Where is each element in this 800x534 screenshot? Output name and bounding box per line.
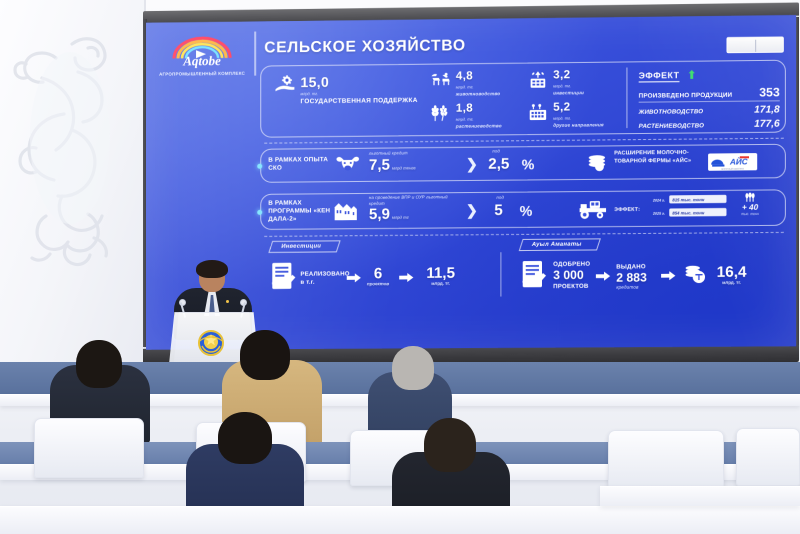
kendala-delta-value: + 40: [742, 203, 758, 212]
effect-livestock-label: ЖИВОТНОВОДСТВО: [639, 109, 704, 117]
state-support-caption: ГОСУДАРСТВЕННАЯ ПОДДЕРЖКА: [300, 96, 417, 105]
kendala-credit-value: 5,9: [369, 206, 390, 223]
kpi-crops: 1,8 млрд. тг. растениеводство: [430, 103, 502, 129]
svg-text:АЙС: АЙС: [729, 157, 748, 166]
chair-5: [736, 428, 800, 486]
kazakhstan-state-emblem: [196, 328, 226, 358]
effect-row-crops: РАСТЕНИЕВОДСТВО 177,6: [639, 120, 780, 131]
investments-total: 11,5 млрд. тг.: [419, 266, 461, 287]
coins-tenge-icon: [684, 265, 709, 284]
auyl-total: 16,4 млрд. тг.: [710, 265, 753, 286]
hand-with-gear-icon: [274, 75, 296, 93]
title-divider: [254, 32, 256, 76]
bottom-section-separator: [500, 252, 501, 296]
other-directions-caption: другие направления: [553, 122, 604, 128]
kendala-credit-value-wrap: 5,9млрд тг: [369, 207, 409, 222]
kendala-rate-value: 5: [494, 203, 502, 218]
tab-investments-label: Инвестиции: [281, 243, 321, 249]
grain-elevator-icon: [333, 200, 359, 221]
factory-icon: [527, 103, 549, 121]
kendala-credit-caption: на проведение ВПР и ОУР льготный кредит: [369, 194, 454, 206]
state-support-unit: млрд. тг.: [300, 89, 417, 95]
kendala-rate-caption: под: [496, 195, 504, 200]
conference-room-photo: Aqtobe АГРОПРОМЫШЛЕННЫЙ КОМПЛЕКС СЕЛЬСКО…: [0, 0, 800, 534]
kpi-other-directions: 5,2 млрд. тг. другие направления: [527, 102, 604, 128]
sko-credit-value: 7,5: [369, 157, 390, 174]
auyl-approved-unit: ПРОЕКТОВ: [553, 283, 588, 291]
investments-unit: млрд. тг.: [553, 83, 584, 88]
auyl-issued-value: 2 883: [616, 271, 647, 283]
kendala-chevron-icon: ❯: [466, 202, 478, 219]
crops-value: 1,8: [456, 103, 502, 115]
tab-auyl-amanaty-label: Ауыл Аманаты: [532, 242, 582, 248]
auyl-approved-value: 3 000: [553, 269, 584, 281]
audience-person-5-head: [424, 418, 476, 472]
document-signed-icon-auyl: [521, 260, 547, 290]
speaker-lapel-pin: [226, 300, 229, 303]
svg-text:молочный комплекс: молочный комплекс: [721, 167, 744, 170]
arrow-right-icon-1: [347, 273, 361, 282]
kendala-effect-value-2: 854 тыс. тонн: [669, 208, 726, 217]
livestock-caption: животноводство: [456, 91, 500, 96]
crops-caption: растениеводство: [456, 123, 502, 128]
cattle-icon: [430, 71, 452, 89]
screen-corner-label: [726, 36, 783, 53]
effect-crops-value: 177,6: [754, 120, 780, 130]
arrow-right-icon-3: [596, 272, 610, 281]
brand-subtitle: АГРОПРОМЫШЛЕННЫЙ КОМПЛЕКС: [154, 71, 250, 78]
kendala-row-bullet: [257, 210, 262, 215]
sko-result-text: РАСШИРЕНИЕ МОЛОЧНО-ТОВАРНОЙ ФЕРМЫ «АЙС»: [614, 150, 700, 167]
investments-value: 3,2: [553, 70, 584, 82]
effect-crops-label: РАСТЕНИЕВОДСТВО: [639, 123, 704, 131]
document-signed-icon-investments: [270, 262, 296, 292]
auyl-total-value: 16,4: [717, 264, 747, 281]
effect-livestock-value: 171,8: [754, 105, 780, 115]
chair-4: [608, 430, 724, 488]
kpi-state-support: 15,0 млрд. тг. ГОСУДАРСТВЕННАЯ ПОДДЕРЖКА: [274, 74, 417, 106]
investments-projects-unit: проектов: [363, 282, 393, 287]
kazakh-relief-ornament: [6, 18, 134, 286]
wheat-small-icon: [744, 193, 756, 202]
sko-credit-unit: млрд тенге: [392, 165, 416, 170]
effect-produced-label: ПРОИЗВЕДЕНО ПРОДУКЦИИ: [639, 91, 733, 99]
kendala-year-2: 2025 г.: [653, 212, 665, 216]
kendala-delta: + 40 тыс. тонн: [735, 204, 766, 217]
wheat-icon: [430, 104, 452, 122]
other-directions-unit: млрд. тг.: [553, 115, 604, 121]
crops-unit: млрд. тг.: [456, 116, 502, 121]
kpi-investments: 3,2 млрд. тг. инвестиции: [527, 70, 584, 96]
desk-row-3-right: [600, 486, 800, 506]
audience-person-1-head: [76, 340, 122, 388]
kendala-effect-label: ЭФФЕКТ:: [614, 207, 640, 213]
svg-text:Aqtobe: Aqtobe: [182, 53, 221, 68]
sko-row-label: В РАМКАХ ОПЫТА СКО: [268, 156, 330, 173]
investments-caption: инвестиции: [553, 90, 584, 95]
kendala-rate-symbol: %: [520, 203, 533, 219]
audience-person-4-head: [218, 412, 272, 464]
kendala-effect-value-1: 815 тыс. тонн: [669, 195, 726, 204]
top-card-separator: [626, 68, 627, 129]
investment-icon: [527, 70, 549, 88]
brand-block: Aqtobe АГРОПРОМЫШЛЕННЫЙ КОМПЛЕКС: [154, 34, 250, 78]
auyl-issued-unit: кредитов: [616, 285, 638, 290]
effect-row-produced: ПРОИЗВЕДЕНО ПРОДУКЦИИ 353: [639, 86, 780, 100]
audience-person-2-head: [240, 330, 290, 380]
kendala-row-label: В РАМКАХ ПРОГРАММЫ «КЕН ДАЛА-2»: [268, 199, 330, 224]
sko-credit-value-wrap: 7,5млрд тенге: [369, 157, 416, 173]
audience-person-3-head: [392, 346, 434, 390]
sko-row-bullet: [257, 164, 262, 169]
investments-projects: 6 проектов: [363, 266, 393, 287]
up-arrow-icon: [689, 66, 695, 75]
ais-partner-logo: АЙС молочный комплекс: [708, 153, 757, 171]
livestock-unit: млрд. тг.: [456, 84, 500, 90]
investments-projects-value: 6: [374, 265, 382, 282]
other-directions-value: 5,2: [553, 102, 604, 114]
dashed-divider-2: [264, 232, 784, 237]
aqtobe-logo-icon: Aqtobe: [166, 34, 238, 69]
tractor-icon: [578, 199, 609, 219]
investments-total-unit: млрд. тг.: [419, 282, 461, 287]
tab-investments[interactable]: Инвестиции: [268, 240, 340, 253]
desk-row-3-top: [0, 506, 800, 534]
cow-head-icon: [335, 155, 361, 175]
speaker-hair: [196, 260, 228, 278]
sko-rate-value: 2,5: [488, 156, 509, 171]
coins-icon: [586, 155, 608, 172]
arrow-right-icon-2: [399, 273, 413, 282]
state-support-value: 15,0: [300, 74, 417, 89]
tab-auyl-amanaty[interactable]: Ауыл Аманаты: [519, 238, 601, 251]
chair-1: [34, 418, 144, 478]
effect-block: ЭФФЕКТ ПРОИЗВЕДЕНО ПРОДУКЦИИ 353: [639, 64, 780, 131]
audience-area: [0, 368, 800, 534]
sko-rate-caption: под: [492, 148, 500, 153]
effect-row-livestock: ЖИВОТНОВОДСТВО 171,8: [639, 105, 780, 117]
investments-total-value: 11,5: [426, 265, 455, 282]
kendala-year-1: 2024 г.: [653, 198, 665, 202]
livestock-value: 4,8: [456, 71, 500, 83]
dashed-divider-1: [264, 138, 784, 144]
effect-divider: [639, 100, 780, 102]
effect-produced-value: 353: [759, 86, 780, 98]
arrow-right-icon-4: [661, 271, 675, 280]
sko-rate-symbol: %: [522, 156, 535, 172]
sko-chevron-icon: ❯: [466, 156, 478, 173]
auyl-total-unit: млрд. тг.: [710, 281, 753, 286]
slide-title: СЕЛЬСКОЕ ХОЗЯЙСТВО: [264, 37, 466, 57]
kendala-credit-unit: млрд тг: [392, 215, 409, 220]
investments-label: РЕАЛИЗОВАНО в т.г.: [300, 270, 344, 287]
effect-title: ЭФФЕКТ: [639, 70, 680, 83]
sko-credit-caption: льготный кредит: [369, 150, 408, 155]
kendala-delta-unit: тыс. тонн: [735, 213, 766, 217]
kpi-livestock: 4,8 млрд. тг. животноводство: [430, 71, 501, 97]
